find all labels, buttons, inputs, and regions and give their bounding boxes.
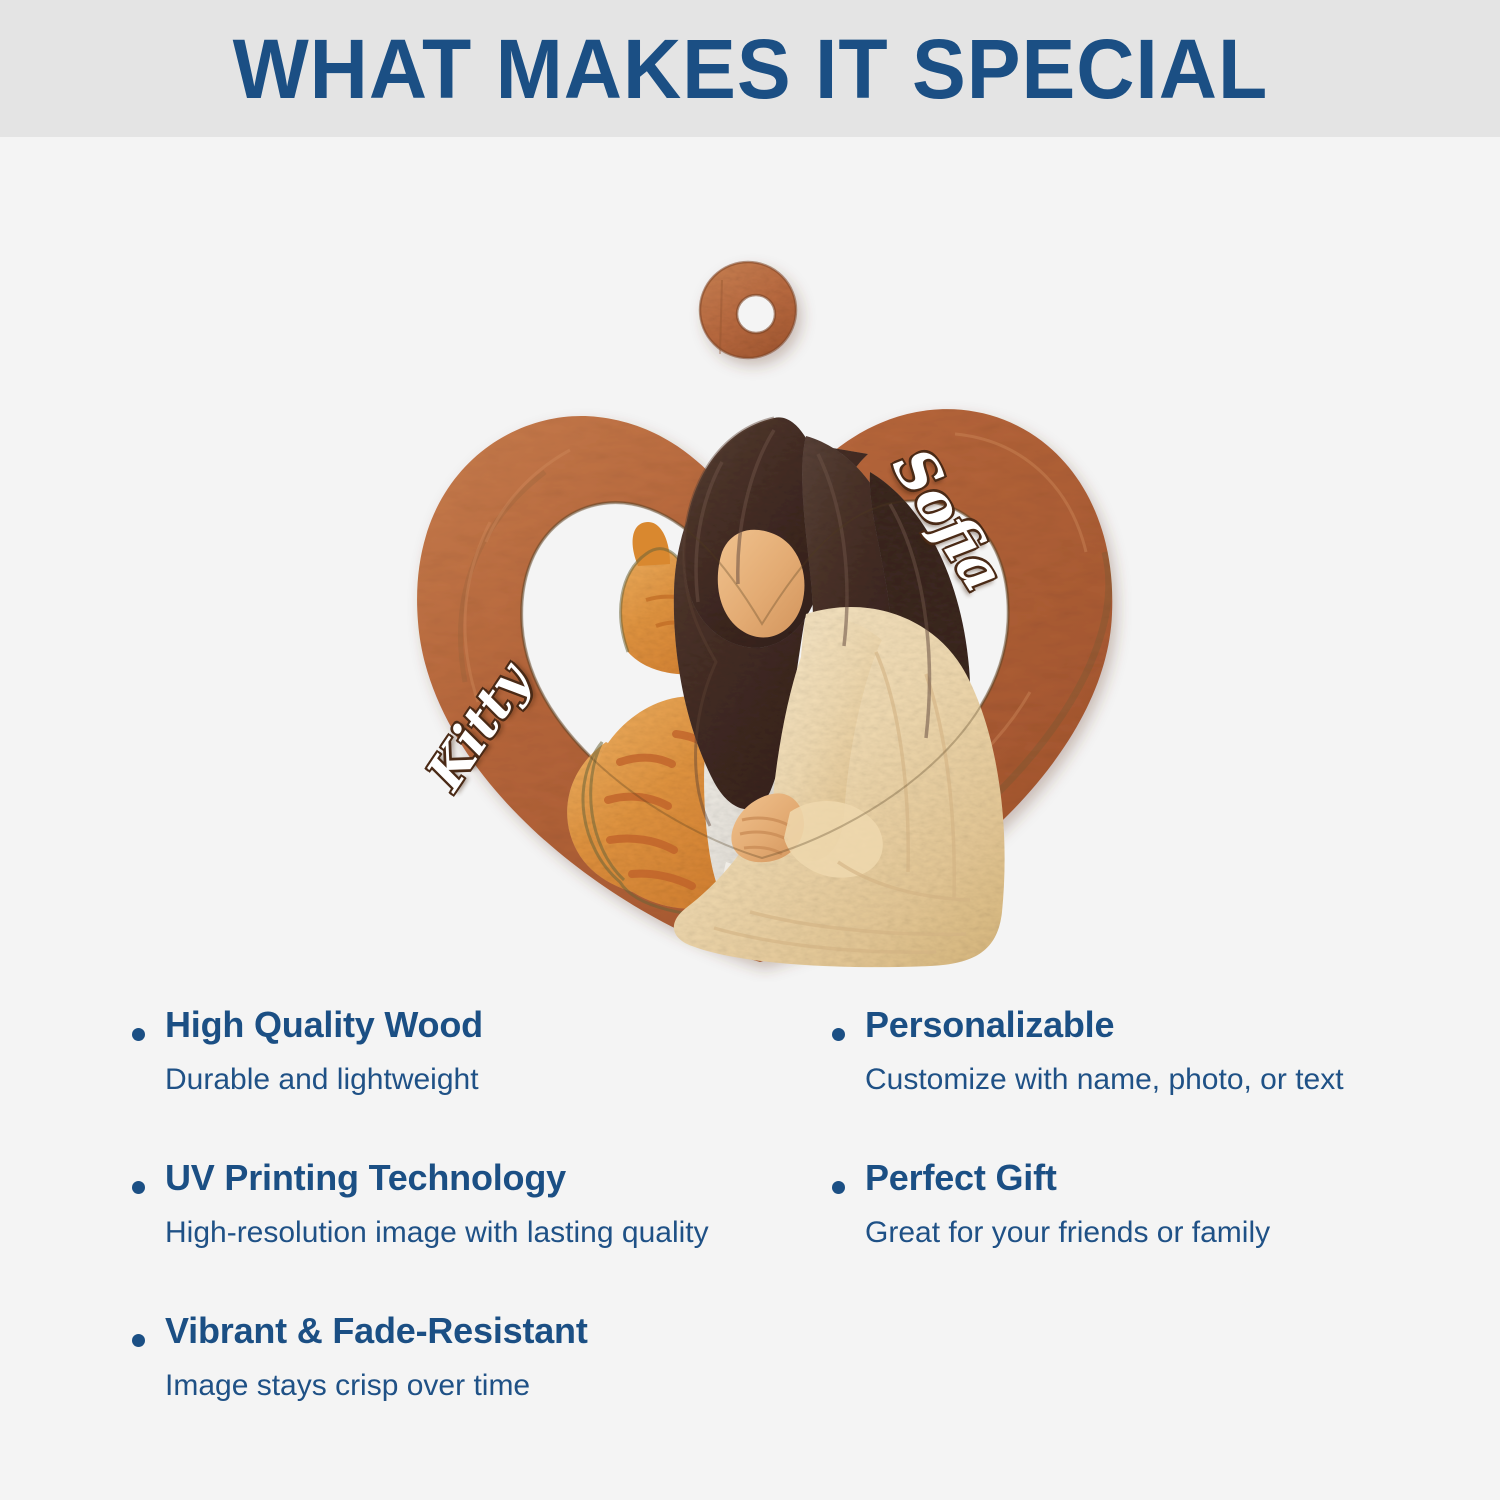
feature-title: High Quality Wood [165, 1002, 820, 1047]
feature-title: Perfect Gift [865, 1155, 1480, 1200]
feature-item: Personalizable Customize with name, phot… [820, 1002, 1480, 1099]
features-right-column: Personalizable Customize with name, phot… [820, 1002, 1480, 1308]
feature-title: Personalizable [865, 1002, 1480, 1047]
feature-description: High-resolution image with lasting quali… [165, 1213, 820, 1252]
hanger-loop [700, 262, 796, 358]
header-band: WHAT MAKES IT SPECIAL [0, 0, 1500, 137]
feature-description: Image stays crisp over time [165, 1366, 820, 1405]
bullet-dot-icon [132, 1334, 145, 1347]
features-left-column: High Quality Wood Durable and lightweigh… [120, 1002, 820, 1461]
feature-description: Great for your friends or family [865, 1213, 1480, 1252]
feature-description: Durable and lightweight [165, 1060, 820, 1099]
feature-item: UV Printing Technology High-resolution i… [120, 1155, 820, 1252]
feature-title: UV Printing Technology [165, 1155, 820, 1200]
feature-description: Customize with name, photo, or text [865, 1060, 1480, 1099]
bullet-dot-icon [132, 1181, 145, 1194]
feature-item: Perfect Gift Great for your friends or f… [820, 1155, 1480, 1252]
feature-title: Vibrant & Fade-Resistant [165, 1308, 820, 1353]
features-section: High Quality Wood Durable and lightweigh… [0, 1002, 1500, 1500]
bullet-dot-icon [832, 1181, 845, 1194]
product-image-stage: Sofia Kitty [0, 137, 1500, 1002]
feature-item: High Quality Wood Durable and lightweigh… [120, 1002, 820, 1099]
heart-ornament-illustration [370, 222, 1150, 982]
bullet-dot-icon [132, 1028, 145, 1041]
page-title: WHAT MAKES IT SPECIAL [232, 27, 1268, 111]
feature-item: Vibrant & Fade-Resistant Image stays cri… [120, 1308, 820, 1405]
bullet-dot-icon [832, 1028, 845, 1041]
